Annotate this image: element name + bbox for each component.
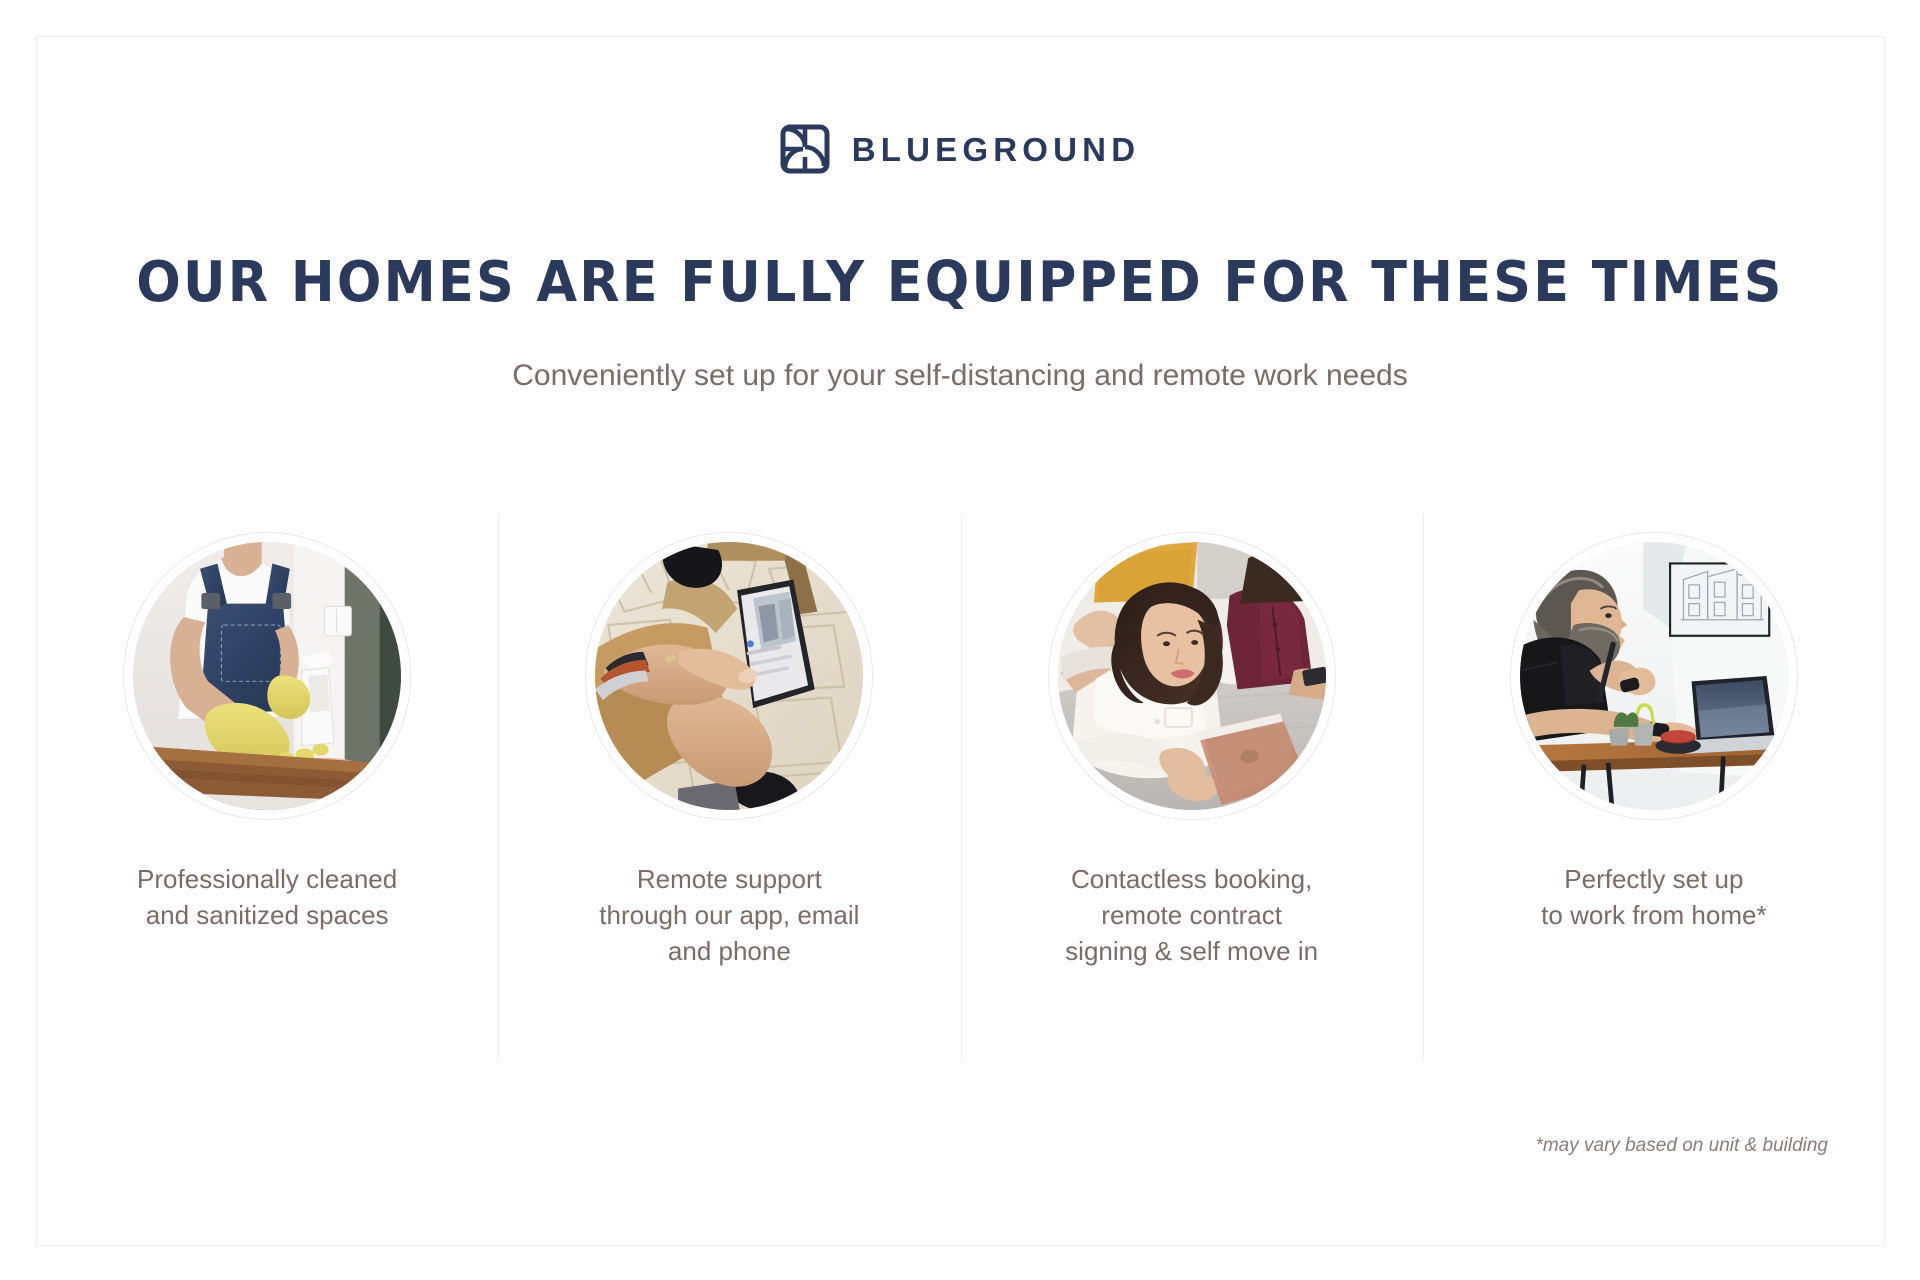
blueground-logo-icon: [780, 124, 830, 174]
feature-columns: Professionally cleaned and sanitized spa…: [36, 510, 1885, 1070]
feature-column-work-from-home: Perfectly set up to work from home*: [1423, 510, 1885, 1070]
cleaning-thumbnail-ring: [123, 532, 411, 820]
disclaimer-note: *may vary based on unit & building: [1535, 1135, 1828, 1157]
desk-thumbnail-ring: [1510, 532, 1798, 820]
feature-caption: Professionally cleaned and sanitized spa…: [137, 862, 397, 934]
brand-lockup: BLUEGROUND: [0, 124, 1920, 174]
woman-with-tablet-photo: [1058, 542, 1326, 810]
tablet-thumbnail-ring: [1048, 532, 1336, 820]
feature-caption: Contactless booking, remote contract sig…: [1065, 862, 1318, 970]
phone-in-hands-photo: [595, 542, 863, 810]
page-title: OUR HOMES ARE FULLY EQUIPPED FOR THESE T…: [62, 254, 1857, 313]
feature-column-contactless: Contactless booking, remote contract sig…: [961, 510, 1423, 1070]
page-subtitle: Conveniently set up for your self-distan…: [0, 356, 1920, 395]
feature-caption: Remote support through our app, email an…: [599, 862, 859, 970]
feature-column-cleaning: Professionally cleaned and sanitized spa…: [36, 510, 498, 1070]
cleaning-person-photo: [133, 542, 401, 810]
man-working-from-home-photo: [1520, 542, 1788, 810]
poster-canvas: BLUEGROUND OUR HOMES ARE FULLY EQUIPPED …: [0, 0, 1920, 1280]
feature-column-remote-support: Remote support through our app, email an…: [498, 510, 960, 1070]
phone-thumbnail-ring: [585, 532, 873, 820]
brand-wordmark: BLUEGROUND: [852, 133, 1141, 166]
feature-caption: Perfectly set up to work from home*: [1541, 862, 1766, 934]
